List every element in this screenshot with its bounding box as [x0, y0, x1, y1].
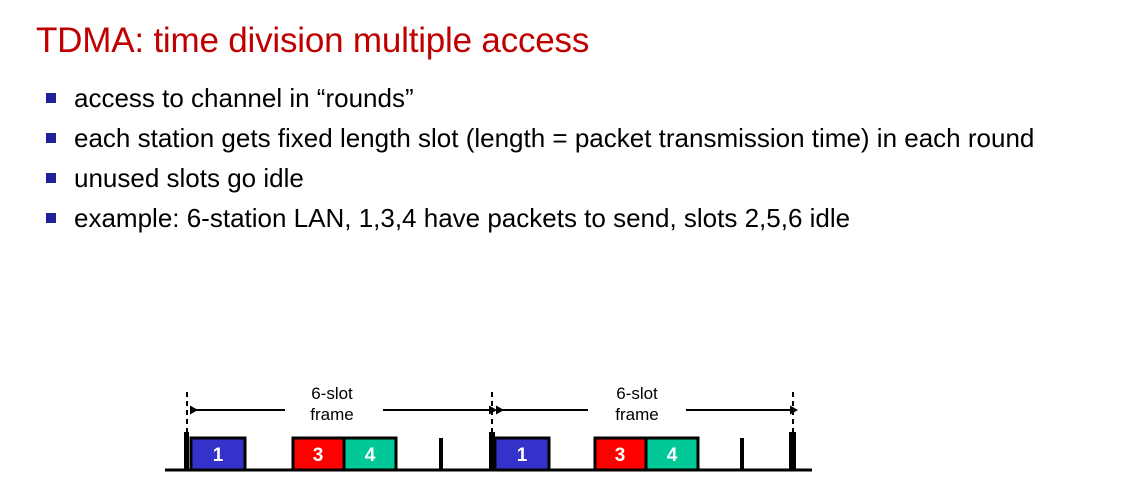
square-bullet-icon: [46, 93, 56, 103]
frame-1-slot-4-label: 4: [365, 445, 376, 466]
list-item: example: 6-station LAN, 1,3,4 have packe…: [44, 200, 1084, 236]
list-item-label: each station gets fixed length slot (len…: [74, 120, 1074, 156]
frame-2-slot-1-packet: 1: [495, 438, 549, 470]
list-item-label: example: 6-station LAN, 1,3,4 have packe…: [74, 200, 1074, 236]
frame-2-slot-5-idle-tick: [740, 438, 744, 470]
frame-1-boundary-left: [184, 392, 189, 470]
frame-1-slot-3-packet: 3: [293, 438, 344, 470]
frame-2-slot-1-label: 1: [517, 445, 528, 466]
list-item: access to channel in “rounds”: [44, 80, 1084, 116]
page-title: TDMA: time division multiple access: [36, 21, 589, 61]
square-bullet-icon: [46, 213, 56, 223]
frame-1-slot-1-label: 1: [213, 445, 224, 466]
frame-2-boundary-right: [789, 392, 796, 470]
frame-2-label-line2: frame: [615, 405, 658, 424]
slide: TDMA: time division multiple access acce…: [0, 0, 1123, 495]
frame-1-slot-5-idle-tick: [439, 438, 443, 470]
frame-1-slot-3-label: 3: [313, 445, 324, 466]
frame-1-label-line1: 6-slot: [311, 384, 353, 403]
frame-2-slot-4-packet: 4: [646, 438, 698, 470]
frame-2-label-line1: 6-slot: [616, 384, 658, 403]
square-bullet-icon: [46, 133, 56, 143]
frame-1-slot-1-packet: 1: [191, 438, 245, 470]
bullet-list: access to channel in “rounds” each stati…: [44, 80, 1084, 240]
frame-2-slot-3-packet: 3: [595, 438, 646, 470]
frame-1-slot-4-packet: 4: [344, 438, 396, 470]
frame-1-label-line2: frame: [310, 405, 353, 424]
frame-2-slot-4-label: 4: [667, 445, 678, 466]
list-item-label: access to channel in “rounds”: [74, 80, 1074, 116]
list-item-label: unused slots go idle: [74, 160, 1074, 196]
frame-2-slot-3-label: 3: [615, 445, 626, 466]
tdma-frame-diagram: 6-slot frame 6-slot frame 1 3: [0, 360, 1123, 495]
list-item: unused slots go idle: [44, 160, 1084, 196]
square-bullet-icon: [46, 173, 56, 183]
list-item: each station gets fixed length slot (len…: [44, 120, 1084, 156]
